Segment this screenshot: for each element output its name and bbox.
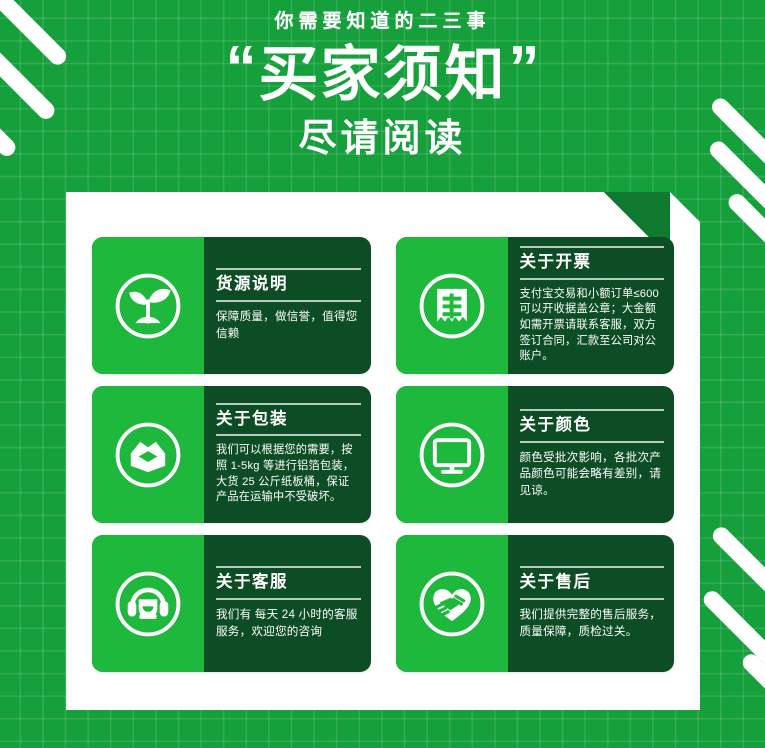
card-icon-holder [396, 237, 508, 374]
card-text-holder: 关于客服 我们有 每天 24 小时的客服服务，欢迎您的咨询 [204, 535, 371, 672]
open-quote-mark: “ [226, 38, 257, 100]
card-icon-holder [92, 535, 204, 672]
header-subtitle: 尽请阅读 [0, 120, 765, 158]
card-text-holder: 关于售后 我们提供完整的售后服务，质量保障，质检过关。 [508, 535, 675, 672]
monitor-display-icon [413, 416, 491, 494]
card-text-holder: 关于颜色 颜色受批次影响，各批次产品颜色可能会略有差别，请见谅。 [508, 386, 675, 523]
card-text-holder: 关于开票 支付宝交易和小额订单≤600可以开收据盖公章；大金额如需开票请联系客服… [508, 237, 675, 374]
card-description: 我们有 每天 24 小时的客服服务，欢迎您的咨询 [216, 607, 361, 641]
card-title: 关于开票 [520, 246, 665, 280]
sprout-plant-icon [109, 267, 187, 345]
card-title: 关于颜色 [520, 409, 665, 443]
handshake-heart-icon [413, 565, 491, 643]
page-title: 买家须知 [259, 45, 507, 105]
card-description: 我们提供完整的售后服务，质量保障，质检过关。 [520, 607, 665, 641]
card-text-holder: 关于包装 我们可以根据您的需要，按照 1-5kg 等进行铝箔包装，大货 25 公… [204, 386, 371, 523]
card-title: 货源说明 [216, 268, 361, 302]
card-description: 保障质量，做信誉，值得您信赖 [216, 309, 361, 343]
info-card-packaging[interactable]: 关于包装 我们可以根据您的需要，按照 1-5kg 等进行铝箔包装，大货 25 公… [92, 386, 371, 523]
card-description: 支付宝交易和小额订单≤600可以开收据盖公章；大金额如需开票请联系客服，双方签订… [520, 287, 665, 365]
card-description: 颜色受批次影响，各批次产品颜色可能会略有差别，请见谅。 [520, 450, 665, 500]
info-card-after-sales[interactable]: 关于售后 我们提供完整的售后服务，质量保障，质检过关。 [396, 535, 675, 672]
card-icon-holder [396, 386, 508, 523]
card-description: 我们可以根据您的需要，按照 1-5kg 等进行铝箔包装，大货 25 公斤纸板桶，… [216, 443, 361, 506]
info-card-customer-service[interactable]: 关于客服 我们有 每天 24 小时的客服服务，欢迎您的咨询 [92, 535, 371, 672]
open-box-package-icon [109, 416, 187, 494]
info-card-supply[interactable]: 货源说明 保障质量，做信誉，值得您信赖 [92, 237, 371, 374]
header-title-row: “ 买家须知 ” [0, 44, 765, 106]
info-card-grid: 货源说明 保障质量，做信誉，值得您信赖 关于开票 支付宝交易和小额订单≤600可… [66, 192, 700, 710]
card-icon-holder [92, 386, 204, 523]
page-header: 你需要知道的二三事 “ 买家须知 ” 尽请阅读 [0, 0, 765, 192]
info-card-color[interactable]: 关于颜色 颜色受批次影响，各批次产品颜色可能会略有差别，请见谅。 [396, 386, 675, 523]
card-title: 关于售后 [520, 566, 665, 600]
invoice-receipt-icon [413, 267, 491, 345]
headset-support-icon [109, 565, 187, 643]
card-title: 关于包装 [216, 403, 361, 437]
close-quote-mark: ” [509, 38, 540, 100]
card-icon-holder [92, 237, 204, 374]
card-title: 关于客服 [216, 566, 361, 600]
diagonal-stripe-icon [739, 651, 765, 722]
info-card-invoice[interactable]: 关于开票 支付宝交易和小额订单≤600可以开收据盖公章；大金额如需开票请联系客服… [396, 237, 675, 374]
card-text-holder: 货源说明 保障质量，做信誉，值得您信赖 [204, 237, 371, 374]
card-icon-holder [396, 535, 508, 672]
header-eyebrow-text: 你需要知道的二三事 [274, 12, 490, 31]
